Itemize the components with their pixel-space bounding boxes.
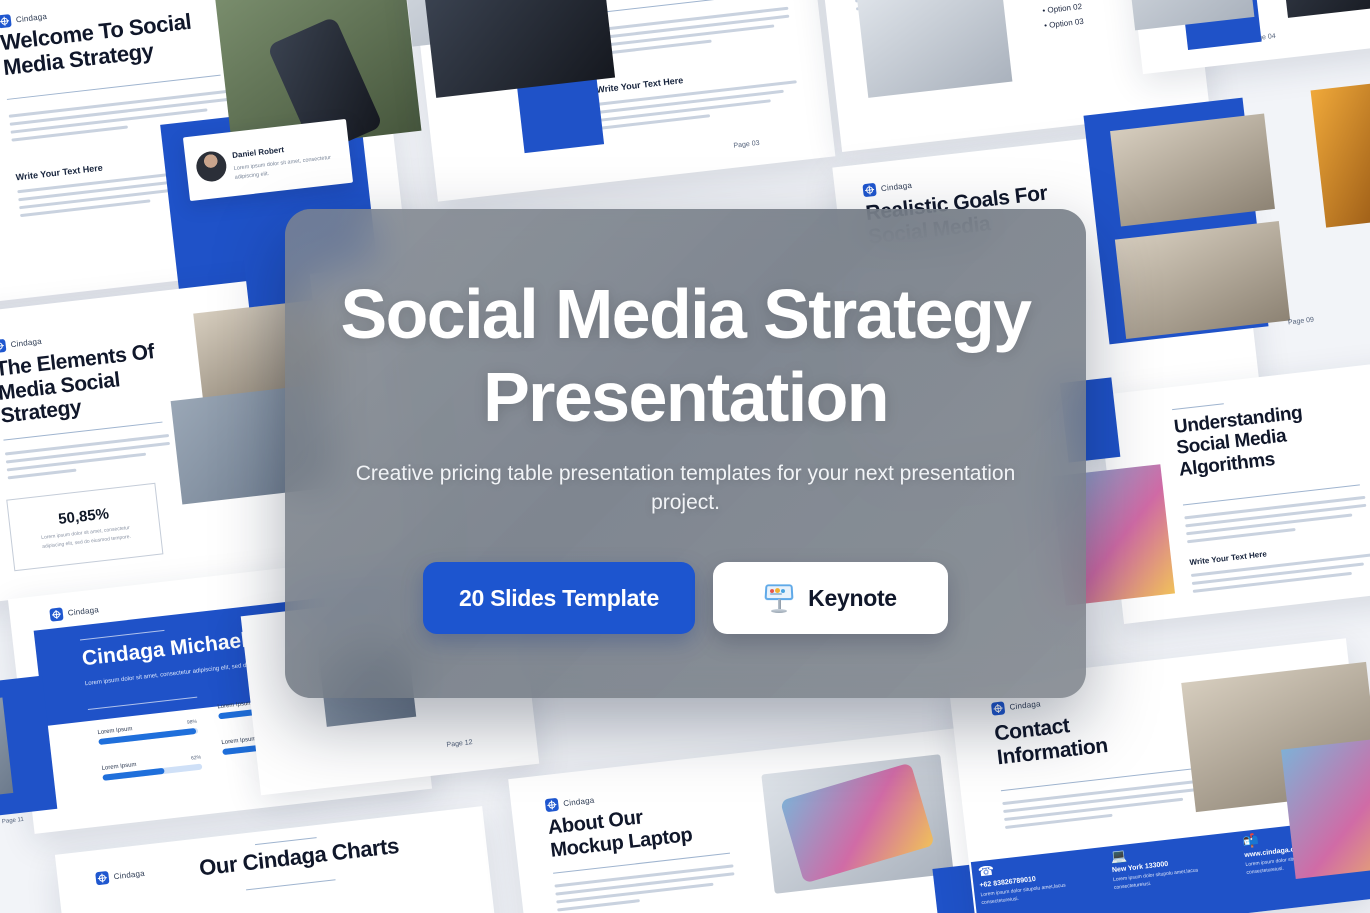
avatar [195, 150, 228, 183]
slide-logo: Cindaga [49, 603, 99, 621]
title-line-1: Social Media Strategy [341, 275, 1031, 353]
keynote-button[interactable]: Keynote [713, 562, 948, 634]
page-number: Page 11 [2, 817, 24, 825]
stat-box: 50,85% Lorem ipsum dolor sit amet, conse… [6, 483, 163, 572]
speaker-name: Daniel Robert [232, 145, 285, 160]
body-text-placeholder [589, 7, 791, 56]
slide-photo [1311, 78, 1370, 227]
cindaga-globe-icon [49, 607, 63, 621]
keynote-button-label: Keynote [808, 585, 897, 612]
slide-logo: Cindaga [95, 867, 145, 885]
cindaga-globe-icon [0, 14, 12, 28]
cindaga-globe-icon [0, 339, 6, 353]
slide-title: The Elements Of Media Social Strategy [0, 338, 176, 429]
bar-percent: 98% [187, 719, 198, 726]
slide-subhead: Write Your Text Here [1189, 549, 1267, 567]
progress-group: Lorem Ipsum 62% [101, 755, 202, 781]
brand-label: Cindaga [113, 869, 145, 881]
option-item: Option 03 [1043, 14, 1084, 34]
slides-template-button[interactable]: 20 Slides Template [423, 562, 695, 634]
contact-item[interactable]: ☎ +62 83826789010 Lorem ipsum dolor situ… [971, 847, 1109, 912]
page-title: Social Media Strategy Presentation [325, 273, 1046, 438]
slide-photo [1281, 735, 1370, 879]
brand-label: Cindaga [1009, 699, 1041, 711]
product-hero-modal: Social Media Strategy Presentation Creat… [285, 209, 1086, 698]
contact-item[interactable]: 💻 New York 133000 Lorem ipsum dolor situ… [1103, 832, 1241, 897]
body-text-placeholder [554, 864, 736, 911]
slide-title: Understanding Social Media Algorithms [1173, 399, 1339, 481]
action-button-group: 20 Slides Template Keynote [325, 562, 1046, 634]
page-number: Page 03 [733, 140, 760, 150]
slide-logo: Cindaga [545, 794, 595, 812]
slide-logo: Cindaga [862, 179, 912, 197]
slide-title: Contact Information [993, 705, 1157, 770]
keynote-podium-icon [764, 582, 794, 614]
brand-label: Cindaga [10, 337, 42, 349]
page-number: Page 12 [446, 739, 473, 749]
brand-label: Cindaga [67, 605, 99, 617]
divider [1172, 403, 1224, 410]
stat-caption: Lorem ipsum dolor sit amet, consectetur … [29, 523, 142, 553]
page-subtitle: Creative pricing table presentation temp… [325, 460, 1046, 518]
body-text-placeholder [5, 434, 172, 480]
cindaga-globe-icon [95, 871, 109, 885]
slide-title: Our Cindaga Charts [198, 834, 400, 881]
progress-group: Lorem Ipsum 98% [97, 719, 198, 745]
cindaga-globe-icon [991, 701, 1005, 715]
bar-percent: 62% [191, 755, 202, 762]
screenshot-stage: Cindaga Welcome To Social Media Strategy… [0, 0, 1370, 913]
cindaga-globe-icon [862, 183, 876, 197]
slide-logo: Cindaga [991, 697, 1041, 715]
title-line-2: Presentation [483, 358, 888, 436]
stat-value: 50,85% [57, 505, 109, 528]
brand-label: Cindaga [563, 796, 595, 808]
brand-label: Cindaga [15, 12, 47, 24]
body-text-placeholder [1184, 496, 1368, 543]
slide-photo [857, 0, 1013, 98]
slide-photo [1115, 221, 1290, 339]
page-number: Page 09 [1288, 317, 1315, 327]
slide-mockup-laptop[interactable]: Cindaga About Our Mockup Laptop Write Yo… [508, 726, 998, 913]
laptop-mockup [761, 754, 953, 894]
slide-photo [1110, 114, 1275, 227]
cindaga-globe-icon [545, 798, 559, 812]
brand-label: Cindaga [880, 181, 912, 193]
options-list: Option 01 Option 02 Option 03 [1040, 0, 1085, 34]
slide-logo: Cindaga [0, 335, 42, 353]
slide-subhead: Write Your Text Here [15, 163, 103, 183]
